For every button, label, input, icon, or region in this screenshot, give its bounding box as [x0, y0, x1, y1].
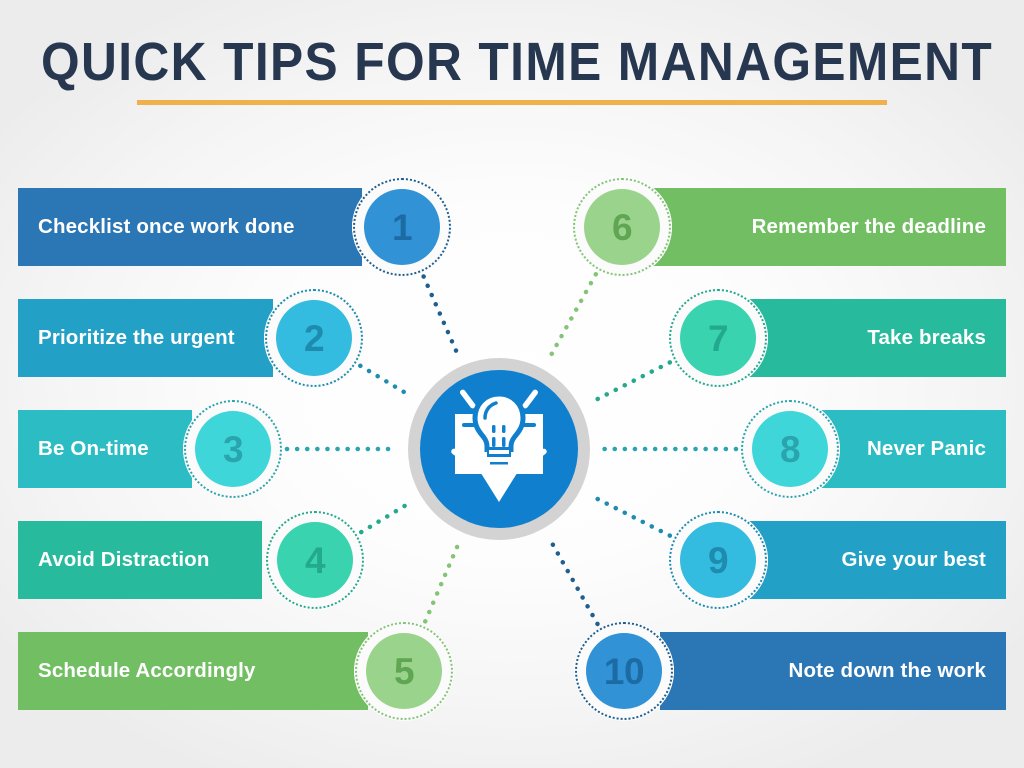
infographic-canvas: QUICK TIPS FOR TIME MANAGEMENT Checklist…	[0, 0, 1024, 768]
tip-label: Take breaks	[867, 326, 986, 350]
tip-label: Note down the work	[789, 659, 986, 683]
tip-bar[interactable]: Remember the deadline	[620, 188, 1006, 266]
tip-number-text: 9	[708, 542, 728, 579]
tip-number-circle[interactable]: 8	[752, 411, 828, 487]
tip-row[interactable]: Remember the deadline6	[0, 188, 1024, 266]
tip-row[interactable]: Note down the work10	[0, 632, 1024, 710]
page-title: QUICK TIPS FOR TIME MANAGEMENT	[41, 34, 983, 91]
tip-label: Never Panic	[867, 437, 986, 461]
tip-label: Give your best	[841, 548, 986, 572]
tip-bar[interactable]: Take breaks	[740, 299, 1006, 377]
tip-number-text: 8	[780, 431, 800, 468]
tip-number-badge[interactable]: 9	[668, 510, 768, 610]
tip-number-circle[interactable]: 9	[680, 522, 756, 598]
tip-number-badge[interactable]: 6	[572, 177, 672, 277]
tip-bar[interactable]: Note down the work	[660, 632, 1006, 710]
tip-bar[interactable]: Never Panic	[812, 410, 1006, 488]
tip-number-circle[interactable]: 7	[680, 300, 756, 376]
tip-number-circle[interactable]: 10	[586, 633, 662, 709]
lightbulb-idea-icon	[449, 382, 549, 504]
tip-number-badge[interactable]: 7	[668, 288, 768, 388]
tip-number-text: 10	[604, 653, 644, 690]
tip-label: Remember the deadline	[752, 215, 986, 239]
tip-number-text: 7	[708, 320, 728, 357]
tip-bar[interactable]: Give your best	[740, 521, 1006, 599]
title-block: QUICK TIPS FOR TIME MANAGEMENT	[0, 34, 1024, 105]
tip-number-badge[interactable]: 10	[574, 621, 674, 721]
title-underline-rule	[137, 100, 887, 105]
tip-number-circle[interactable]: 6	[584, 189, 660, 265]
tip-number-badge[interactable]: 8	[740, 399, 840, 499]
tip-number-text: 6	[612, 209, 632, 246]
